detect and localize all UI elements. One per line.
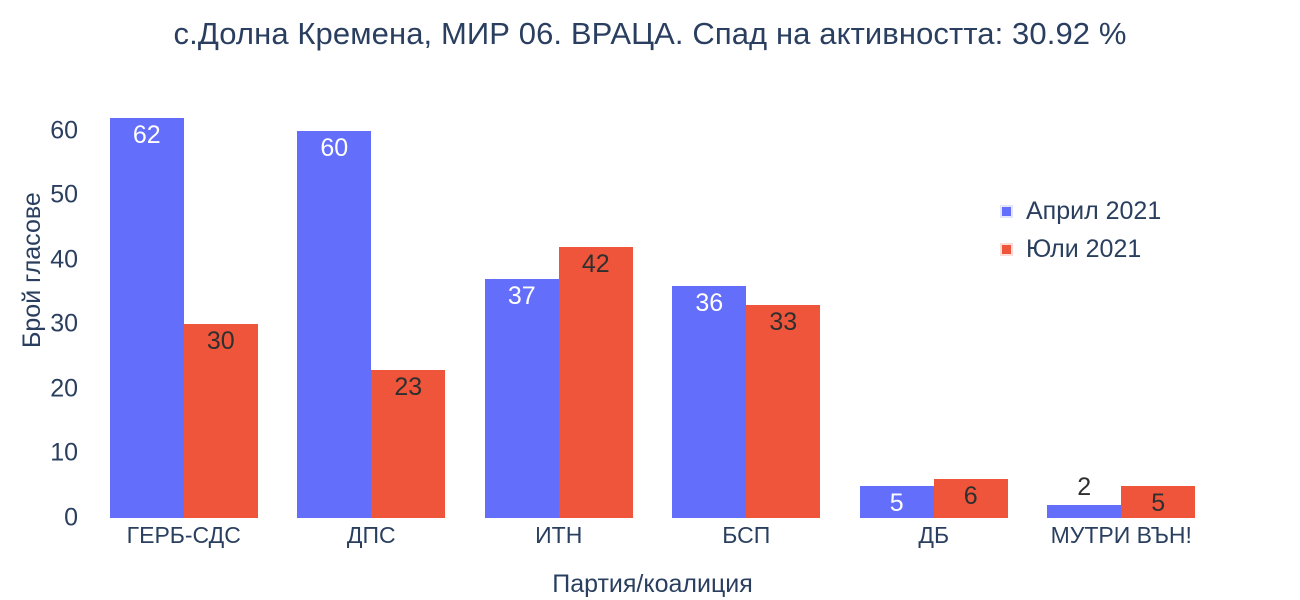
legend-item[interactable]: Април 2021: [1000, 192, 1161, 230]
y-axis-tick-label: 30: [50, 312, 78, 337]
x-axis-tick-label: ДПС: [347, 522, 396, 549]
legend-swatch-icon: [1000, 205, 1013, 218]
plot-area: Брой гласове 0102030405060 6230602337423…: [90, 118, 1215, 518]
bar[interactable]: 2: [1047, 505, 1121, 518]
x-axis-tick-label: ГЕРБ-СДС: [127, 522, 241, 549]
bar-value-label: 30: [184, 329, 258, 354]
bar[interactable]: 36: [672, 286, 746, 518]
y-axis-tick-label: 40: [50, 247, 78, 272]
x-axis-title: Партия/коалиция: [90, 570, 1215, 599]
bar[interactable]: 60: [297, 131, 371, 518]
x-axis-tick-label: ДБ: [918, 522, 949, 549]
bar[interactable]: 6: [934, 479, 1008, 518]
legend-swatch-icon: [1000, 243, 1013, 256]
legend-item[interactable]: Юли 2021: [1000, 230, 1161, 268]
chart-title: с.Долна Кремена, МИР 06. ВРАЦА. Спад на …: [0, 16, 1300, 52]
bar-value-label: 62: [110, 123, 184, 148]
bar[interactable]: 33: [746, 305, 820, 518]
bar-value-label: 33: [746, 310, 820, 335]
bar[interactable]: 5: [1121, 486, 1195, 518]
bar[interactable]: 5: [860, 486, 934, 518]
bar-value-label: 42: [559, 252, 633, 277]
bar-value-label: 5: [1121, 491, 1195, 516]
bar[interactable]: 23: [371, 370, 445, 518]
y-axis-tick-label: 10: [50, 441, 78, 466]
legend: Април 2021Юли 2021: [1000, 192, 1161, 268]
y-axis-tick-label: 60: [50, 118, 78, 143]
bar[interactable]: 30: [184, 324, 258, 518]
y-axis-tick-label: 50: [50, 183, 78, 208]
bar-value-label: 6: [934, 484, 1008, 509]
bar-value-label: 36: [672, 291, 746, 316]
bar-value-label: 60: [297, 136, 371, 161]
bar-value-label: 2: [1047, 475, 1121, 500]
x-axis-tick-label: МУТРИ ВЪН!: [1051, 522, 1192, 549]
x-axis-tick-label: БСП: [722, 522, 770, 549]
y-axis-tick-label: 20: [50, 376, 78, 401]
bar[interactable]: 42: [559, 247, 633, 518]
bar[interactable]: 62: [110, 118, 184, 518]
legend-label: Април 2021: [1026, 197, 1161, 226]
bar-value-label: 23: [371, 375, 445, 400]
y-axis-tick-label: 0: [64, 506, 78, 531]
y-axis-title: Брой гласове: [18, 192, 47, 348]
bar-value-label: 37: [485, 284, 559, 309]
x-axis-tick-label: ИТН: [535, 522, 582, 549]
bar-value-label: 5: [860, 491, 934, 516]
bar-chart: с.Долна Кремена, МИР 06. ВРАЦА. Спад на …: [0, 0, 1300, 600]
bar[interactable]: 37: [485, 279, 559, 518]
legend-label: Юли 2021: [1026, 235, 1141, 264]
